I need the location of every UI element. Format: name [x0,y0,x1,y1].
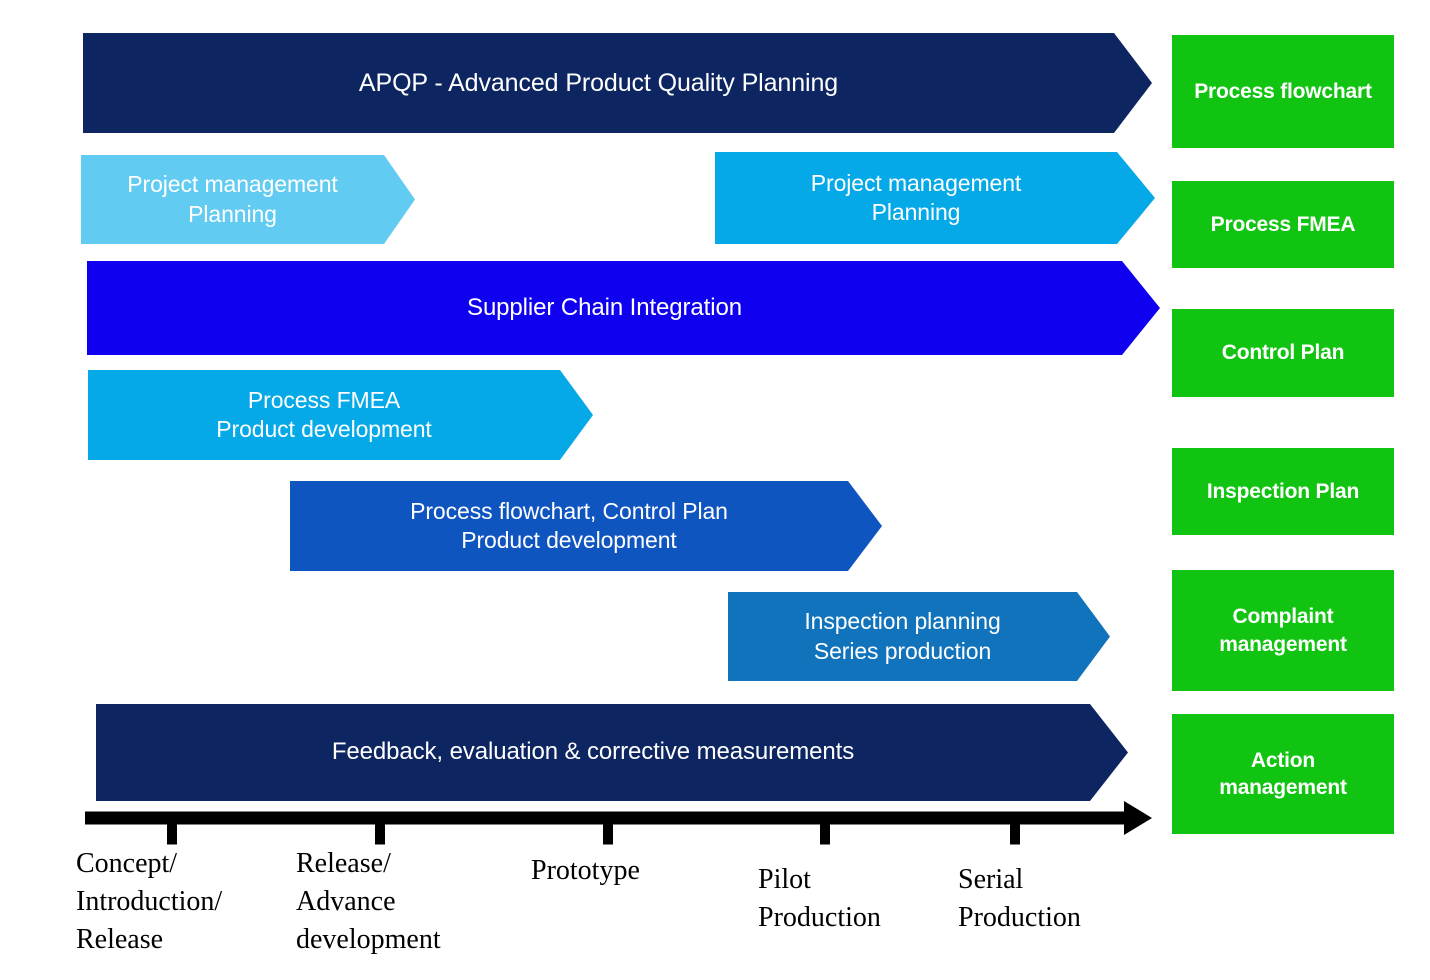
timeline-tick-1 [375,825,385,845]
phase-bar-label: Supplier Chain Integration [457,293,752,324]
timeline-tick-label-4: Serial Production [958,861,1081,937]
timeline-tick-0 [167,825,177,845]
phase-bar-label: Process flowchart, Control Plan Product … [400,497,738,556]
deliverable-box-complaint-management[interactable]: Complaint management [1172,570,1394,691]
timeline-tick-3 [820,825,830,845]
deliverable-box-label: Process FMEA [1211,211,1356,238]
phase-bar-process-flowchart-control-plan[interactable]: Process flowchart, Control Plan Product … [290,481,882,571]
deliverable-box-action-management[interactable]: Action management [1172,714,1394,834]
timeline-arrow-shaft [85,812,1128,825]
deliverable-box-label: Action management [1219,747,1347,802]
deliverable-box-label: Complaint management [1219,603,1347,658]
phase-bar-label: Feedback, evaluation & corrective measur… [322,737,864,768]
phase-bar-project-management-planning-left[interactable]: Project management Planning [81,155,415,244]
timeline-tick-label-2: Prototype [531,852,640,890]
phase-bar-apqp[interactable]: APQP - Advanced Product Quality Planning [83,33,1152,133]
deliverable-box-label: Inspection Plan [1207,478,1359,505]
timeline-tick-label-1: Release/ Advance development [296,845,441,959]
phase-bar-label: Project management Planning [801,169,1031,228]
deliverable-box-label: Process flowchart [1194,78,1372,105]
deliverable-box-process-flowchart[interactable]: Process flowchart [1172,35,1394,148]
phase-bar-label: Inspection planning Series production [794,607,1010,666]
deliverable-box-process-fmea[interactable]: Process FMEA [1172,181,1394,268]
phase-bar-process-fmea-product-development[interactable]: Process FMEA Product development [88,370,593,460]
phase-bar-inspection-planning-series-production[interactable]: Inspection planning Series production [728,592,1110,681]
phase-bar-project-management-planning-right[interactable]: Project management Planning [715,152,1155,244]
deliverable-box-label: Control Plan [1222,339,1344,366]
timeline-tick-2 [603,825,613,845]
deliverable-box-control-plan[interactable]: Control Plan [1172,309,1394,397]
phase-bar-label: Process FMEA Product development [206,386,441,445]
phase-bar-supplier-chain-integration[interactable]: Supplier Chain Integration [87,261,1160,355]
phase-bar-feedback-evaluation-corrective[interactable]: Feedback, evaluation & corrective measur… [96,704,1128,801]
timeline-tick-4 [1010,825,1020,845]
phase-bar-label: APQP - Advanced Product Quality Planning [349,67,848,99]
timeline-tick-label-3: Pilot Production [758,861,881,937]
deliverable-box-inspection-plan[interactable]: Inspection Plan [1172,448,1394,535]
timeline-arrowhead [1124,801,1152,835]
diagram-canvas: APQP - Advanced Product Quality Planning… [0,0,1430,980]
phase-bar-label: Project management Planning [117,170,347,229]
timeline-tick-label-0: Concept/ Introduction/ Release [76,845,222,959]
